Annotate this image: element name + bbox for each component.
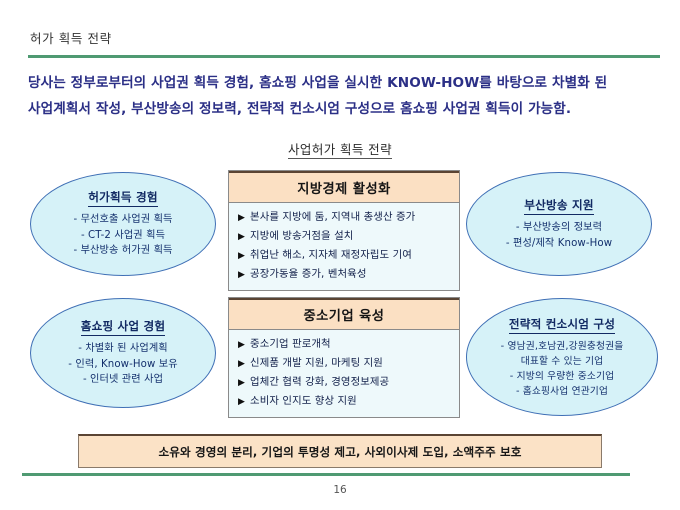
page-number: 16 [0,484,680,496]
list-item: ▶ 소비자 인지도 향상 지원 [238,392,459,411]
list-item: ▶ 공장가동율 증가, 벤처육성 [238,265,459,284]
list-item: ▶ 취업난 해소, 지자체 재정자립도 기여 [238,246,459,265]
governance-banner: 소유와 경영의 분리, 기업의 투명성 제고, 사외이사제 도입, 소액주주 보… [78,434,602,468]
list-item-label: 지방에 방송거점을 설치 [250,227,353,245]
panel-sme-fostering: 중소기업 육성 ▶ 중소기업 판로개척 ▶ 신제품 개발 지원, 마케팅 지원 … [228,297,460,418]
list-item-label: 소비자 인지도 향상 지원 [250,392,357,410]
oval-homeshopping-experience: 홈쇼핑 사업 경험 - 차별화 된 사업계획 - 인력, Know-How 보유… [30,298,216,408]
oval-busan-broadcasting-support: 부산방송 지원 - 부산방송의 정보력 - 편성/제작 Know-How [466,172,652,276]
list-item: ▶ 신제품 개발 지원, 마케팅 지원 [238,354,459,373]
panel-body: ▶ 중소기업 판로개척 ▶ 신제품 개발 지원, 마케팅 지원 ▶ 업체간 협력… [229,330,459,417]
list-item-label: 본사를 지방에 둠, 지역내 총생산 증가 [250,208,415,226]
triangle-right-icon: ▶ [238,266,245,284]
intro-paragraph: 당사는 정부로부터의 사업권 획득 경험, 홈쇼핑 사업을 실시한 KNOW-H… [28,70,664,122]
list-item: ▶ 업체간 협력 강화, 경영정보제공 [238,373,459,392]
panel-title: 지방경제 활성화 [229,171,459,203]
diagram-subtitle-text: 사업허가 획득 전략 [288,142,392,159]
oval-title: 허가획득 경험 [88,189,157,207]
oval-title: 전략적 컨소시엄 구성 [509,316,615,334]
oval-line: - 편성/제작 Know-How [506,236,612,252]
intro-line-1: 당사는 정부로부터의 사업권 획득 경험, 홈쇼핑 사업을 실시한 KNOW-H… [28,70,664,96]
triangle-right-icon: ▶ [238,393,245,411]
triangle-right-icon: ▶ [238,247,245,265]
list-item: ▶ 본사를 지방에 둠, 지역내 총생산 증가 [238,208,459,227]
oval-line: - 지방의 우량한 중소기업 [510,369,614,384]
triangle-right-icon: ▶ [238,228,245,246]
panel-body: ▶ 본사를 지방에 둠, 지역내 총생산 증가 ▶ 지방에 방송거점을 설치 ▶… [229,203,459,290]
oval-line: - CT-2 사업권 획득 [81,228,165,244]
panel-regional-economy: 지방경제 활성화 ▶ 본사를 지방에 둠, 지역내 총생산 증가 ▶ 지방에 방… [228,170,460,291]
oval-title: 부산방송 지원 [524,197,593,215]
governance-banner-text: 소유와 경영의 분리, 기업의 투명성 제고, 사외이사제 도입, 소액주주 보… [159,444,522,460]
triangle-right-icon: ▶ [238,374,245,392]
oval-line: - 인력, Know-How 보유 [68,357,177,373]
oval-strategic-consortium: 전략적 컨소시엄 구성 - 영남권,호남권,강원충청권을 대표할 수 있는 기업… [466,298,658,416]
triangle-right-icon: ▶ [238,355,245,373]
oval-line: 대표할 수 있는 기업 [521,354,604,369]
oval-line: - 차별화 된 사업계획 [78,341,168,357]
triangle-right-icon: ▶ [238,209,245,227]
diagram-subtitle: 사업허가 획득 전략 [0,139,680,158]
oval-line: - 영남권,호남권,강원충청권을 [501,339,624,354]
list-item-label: 업체간 협력 강화, 경영정보제공 [250,373,389,391]
page-title: 허가 획득 전략 [30,28,112,47]
oval-license-experience: 허가획득 경험 - 무선호출 사업권 획득 - CT-2 사업권 획득 - 부산… [30,172,216,276]
list-item-label: 공장가동율 증가, 벤처육성 [250,265,366,283]
intro-line-2: 사업계획서 작성, 부산방송의 정보력, 전략적 컨소시엄 구성으로 홈쇼핑 사… [28,96,664,122]
triangle-right-icon: ▶ [238,336,245,354]
list-item: ▶ 지방에 방송거점을 설치 [238,227,459,246]
list-item-label: 중소기업 판로개척 [250,335,331,353]
footer-divider-rule [22,473,630,476]
oval-line: - 홈쇼핑사업 연관기업 [516,384,608,399]
list-item-label: 신제품 개발 지원, 마케팅 지원 [250,354,383,372]
oval-line: - 무선호출 사업권 획득 [73,212,172,228]
panel-title: 중소기업 육성 [229,298,459,330]
list-item-label: 취업난 해소, 지자체 재정자립도 기여 [250,246,412,264]
oval-line: - 부산방송 허가권 획득 [73,243,172,259]
oval-line: - 부산방송의 정보력 [516,220,602,236]
oval-line: - 인터넷 관련 사업 [83,372,163,388]
header-divider-rule [28,55,660,58]
oval-title: 홈쇼핑 사업 경험 [81,318,166,336]
list-item: ▶ 중소기업 판로개척 [238,335,459,354]
